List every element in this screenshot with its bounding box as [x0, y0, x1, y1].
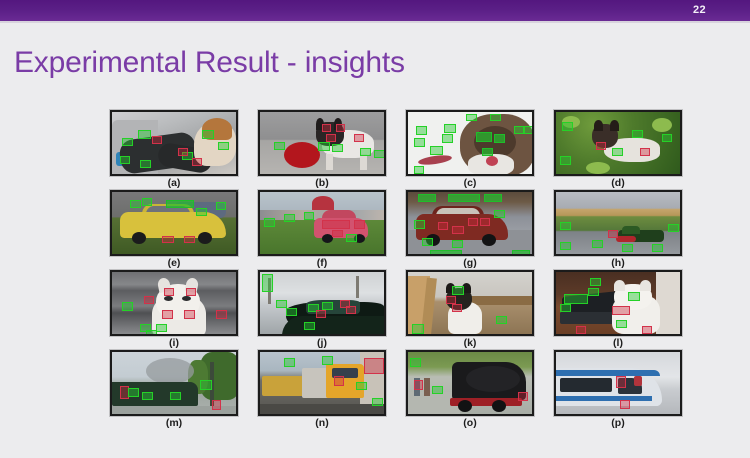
panel-image-o[interactable] — [406, 350, 534, 416]
panel-image-e[interactable] — [110, 190, 238, 256]
figure-panel-b[interactable]: (b) — [258, 110, 386, 190]
slide-header-bar: 22 — [0, 0, 750, 21]
panel-caption-c: (c) — [406, 177, 534, 189]
panel-image-b[interactable] — [258, 110, 386, 176]
panel-image-h[interactable] — [554, 190, 682, 256]
slide-canvas: 22 Experimental Result - insights — [0, 0, 750, 458]
panel-caption-d: (d) — [554, 177, 682, 189]
panel-image-l[interactable] — [554, 270, 682, 336]
panel-caption-j: (j) — [258, 337, 386, 349]
panel-image-j[interactable] — [258, 270, 386, 336]
panel-caption-g: (g) — [406, 257, 534, 269]
figure-panel-i[interactable]: (i) — [110, 270, 238, 350]
figure-panel-f[interactable]: (f) — [258, 190, 386, 270]
panel-caption-i: (i) — [110, 337, 238, 349]
panel-image-d[interactable] — [554, 110, 682, 176]
panel-image-m[interactable] — [110, 350, 238, 416]
figure-panel-e[interactable]: (e) — [110, 190, 238, 270]
panel-caption-l: (l) — [554, 337, 682, 349]
panel-caption-m: (m) — [110, 417, 238, 429]
panel-caption-o: (o) — [406, 417, 534, 429]
figure-panel-d[interactable]: (d) — [554, 110, 682, 190]
page-title: Experimental Result - insights — [14, 46, 405, 80]
panel-image-k[interactable] — [406, 270, 534, 336]
panel-image-n[interactable] — [258, 350, 386, 416]
panel-caption-e: (e) — [110, 257, 238, 269]
panel-caption-f: (f) — [258, 257, 386, 269]
figure-panel-n[interactable]: (n) — [258, 350, 386, 430]
panel-image-p[interactable] — [554, 350, 682, 416]
panel-image-a[interactable] — [110, 110, 238, 176]
panel-image-c[interactable] — [406, 110, 534, 176]
panel-caption-p: (p) — [554, 417, 682, 429]
slide-number: 22 — [693, 3, 706, 17]
figure-panel-j[interactable]: (j) — [258, 270, 386, 350]
panel-caption-h: (h) — [554, 257, 682, 269]
figure-grid: (a) (b) — [110, 110, 684, 430]
figure-panel-c[interactable]: (c) — [406, 110, 534, 190]
figure-panel-h[interactable]: (h) — [554, 190, 682, 270]
panel-image-g[interactable] — [406, 190, 534, 256]
figure-panel-a[interactable]: (a) — [110, 110, 238, 190]
panel-caption-a: (a) — [110, 177, 238, 189]
figure-panel-g[interactable]: (g) — [406, 190, 534, 270]
panel-image-i[interactable] — [110, 270, 238, 336]
figure-panel-k[interactable]: (k) — [406, 270, 534, 350]
figure-panel-l[interactable]: (l) — [554, 270, 682, 350]
panel-image-f[interactable] — [258, 190, 386, 256]
panel-caption-k: (k) — [406, 337, 534, 349]
figure-panel-p[interactable]: (p) — [554, 350, 682, 430]
figure-panel-o[interactable]: (o) — [406, 350, 534, 430]
figure-panel-m[interactable]: (m) — [110, 350, 238, 430]
panel-caption-n: (n) — [258, 417, 386, 429]
panel-caption-b: (b) — [258, 177, 386, 189]
